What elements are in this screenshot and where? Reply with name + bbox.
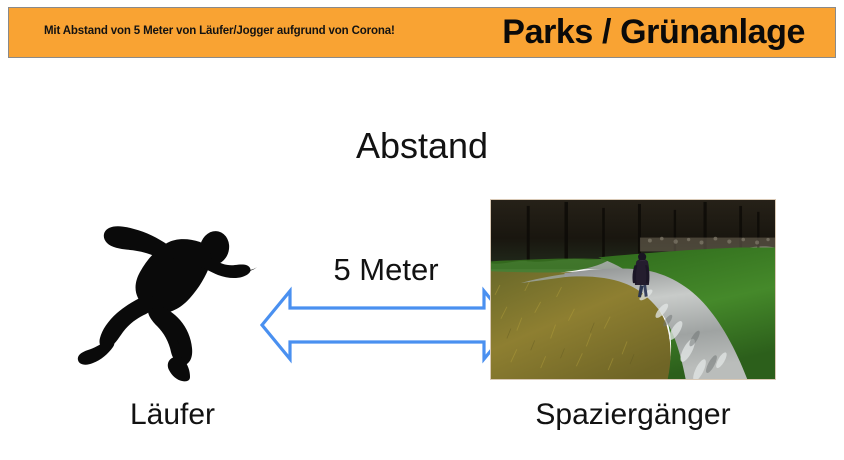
distance-value-label: 5 Meter	[258, 252, 514, 288]
page-title: Parks / Grünanlage	[502, 13, 805, 52]
abstand-heading: Abstand	[0, 125, 844, 167]
caption-walker: Spaziergänger	[488, 398, 778, 432]
park-path-photo	[490, 199, 776, 380]
caption-runner: Läufer	[70, 398, 275, 432]
header-subtitle: Mit Abstand von 5 Meter von Läufer/Jogge…	[44, 25, 395, 37]
header-banner: Mit Abstand von 5 Meter von Läufer/Jogge…	[8, 7, 836, 58]
double-headed-horizontal-arrow-icon	[258, 284, 516, 364]
running-person-silhouette-icon	[72, 212, 272, 382]
